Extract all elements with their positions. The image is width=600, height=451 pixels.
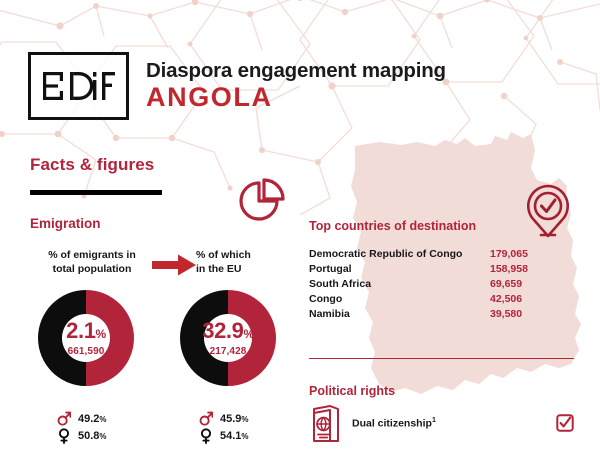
destination-country: South Africa bbox=[309, 278, 371, 290]
gender-female-value-2: 54.1% bbox=[220, 430, 249, 442]
table-row: South Africa 69,659 bbox=[309, 278, 544, 293]
eudif-logo-mark bbox=[41, 66, 117, 106]
title-block: Diaspora engagement mapping ANGOLA bbox=[146, 61, 446, 112]
table-row: Portugal 158,958 bbox=[309, 263, 544, 278]
donut-chart-1-graphic bbox=[32, 284, 140, 392]
eudif-logo bbox=[28, 52, 129, 120]
destination-country: Namibia bbox=[309, 308, 350, 320]
table-row: Congo 42,506 bbox=[309, 293, 544, 308]
top-destinations-heading: Top countries of destination bbox=[309, 219, 476, 233]
section-divider bbox=[309, 358, 574, 359]
table-row: Namibia 39,580 bbox=[309, 308, 544, 323]
left-donut-caption-line2: total population bbox=[32, 262, 152, 276]
female-symbol-icon bbox=[198, 428, 214, 444]
destination-value: 42,506 bbox=[490, 293, 544, 305]
gender-legend-2: 45.9% 54.1% bbox=[198, 410, 249, 444]
gender-male-value-2: 45.9% bbox=[220, 413, 249, 425]
country-title: ANGOLA bbox=[146, 84, 446, 111]
destination-country: Portugal bbox=[309, 263, 352, 275]
right-arrow-icon bbox=[150, 252, 198, 278]
infographic-page: Diaspora engagement mapping ANGOLA Facts… bbox=[0, 0, 600, 451]
destination-country: Congo bbox=[309, 293, 342, 305]
page-header: Diaspora engagement mapping ANGOLA bbox=[28, 52, 446, 120]
political-rights-item-label: Dual citizenship1 bbox=[352, 417, 436, 430]
right-donut-caption-line2: in the EU bbox=[196, 262, 306, 276]
gender-row-female-2: 54.1% bbox=[198, 427, 249, 444]
male-symbol-icon bbox=[198, 411, 214, 426]
facts-divider bbox=[30, 190, 162, 195]
donut-chart-emigrants-eu: 32.9% 217,428 bbox=[174, 284, 282, 397]
gender-female-value-1: 50.8% bbox=[78, 430, 107, 442]
destination-country: Democratic Republic of Congo bbox=[309, 248, 462, 260]
destination-value: 69,659 bbox=[490, 278, 544, 290]
pie-chart-icon bbox=[237, 177, 285, 225]
destination-value: 158,958 bbox=[490, 263, 544, 275]
passport-icon bbox=[308, 405, 344, 445]
facts-and-figures-heading: Facts & figures bbox=[30, 155, 154, 175]
male-symbol-icon bbox=[56, 411, 72, 426]
left-donut-caption-line1: % of emigrants in bbox=[32, 248, 152, 262]
gender-row-female-1: 50.8% bbox=[56, 427, 107, 444]
political-rights-heading: Political rights bbox=[309, 384, 395, 398]
right-donut-caption-line1: % of which bbox=[196, 248, 306, 262]
donut-chart-2-graphic bbox=[174, 284, 282, 392]
donut-chart-emigrants-total: 2.1% 661,590 bbox=[32, 284, 140, 397]
gender-row-male-1: 49.2% bbox=[56, 410, 107, 427]
left-donut-caption: % of emigrants in total population bbox=[32, 248, 152, 276]
destination-value: 179,065 bbox=[490, 248, 544, 260]
location-pin-check-icon bbox=[522, 183, 574, 239]
table-row: Democratic Republic of Congo 179,065 bbox=[309, 248, 544, 263]
female-symbol-icon bbox=[56, 428, 72, 444]
page-title: Diaspora engagement mapping bbox=[146, 61, 446, 82]
top-destinations-table: Democratic Republic of Congo 179,065 Por… bbox=[309, 248, 544, 323]
gender-legend-1: 49.2% 50.8% bbox=[56, 410, 107, 444]
gender-male-value-1: 49.2% bbox=[78, 413, 107, 425]
gender-row-male-2: 45.9% bbox=[198, 410, 249, 427]
right-donut-caption: % of which in the EU bbox=[196, 248, 306, 276]
checked-checkbox-icon[interactable] bbox=[556, 414, 574, 432]
emigration-section-label: Emigration bbox=[30, 216, 101, 231]
destination-value: 39,580 bbox=[490, 308, 544, 320]
